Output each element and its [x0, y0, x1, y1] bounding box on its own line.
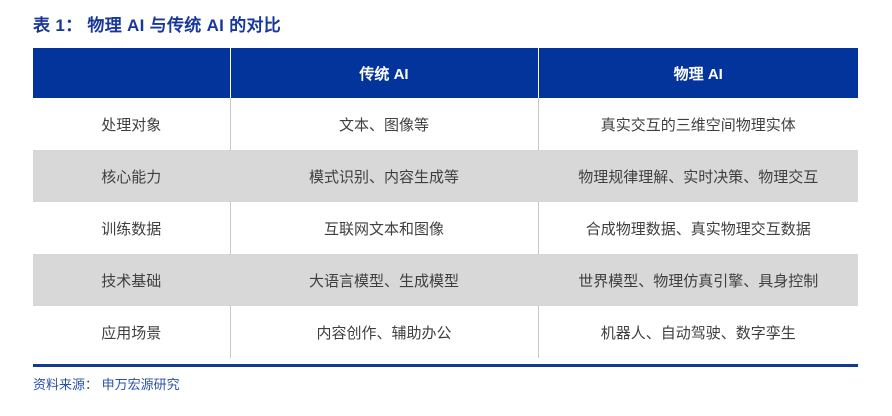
- physical-ai-cell: 合成物理数据、真实物理交互数据: [538, 202, 858, 254]
- traditional-ai-cell: 模式识别、内容生成等: [230, 150, 538, 202]
- traditional-ai-cell: 大语言模型、生成模型: [230, 254, 538, 306]
- physical-ai-cell: 真实交互的三维空间物理实体: [538, 98, 858, 150]
- table-bottom-rule: [33, 364, 858, 367]
- column-header-dimension: [33, 48, 230, 98]
- traditional-ai-cell: 互联网文本和图像: [230, 202, 538, 254]
- row-label-cell: 核心能力: [33, 150, 230, 202]
- table-header-row: 传统 AI 物理 AI: [33, 48, 858, 98]
- row-label-cell: 训练数据: [33, 202, 230, 254]
- traditional-ai-cell: 文本、图像等: [230, 98, 538, 150]
- table-row: 处理对象 文本、图像等 真实交互的三维空间物理实体: [33, 98, 858, 150]
- table-exhibit-page: 表 1： 物理 AI 与传统 AI 的对比 传统 AI 物理 AI 处理对象 文…: [0, 0, 892, 416]
- table-row: 技术基础 大语言模型、生成模型 世界模型、物理仿真引擎、具身控制: [33, 254, 858, 306]
- page-title: 表 1： 物理 AI 与传统 AI 的对比: [33, 11, 281, 36]
- physical-ai-cell: 世界模型、物理仿真引擎、具身控制: [538, 254, 858, 306]
- source-note: 资料来源： 申万宏源研究: [33, 374, 180, 393]
- column-header-traditional-ai: 传统 AI: [230, 48, 538, 98]
- table-row: 应用场景 内容创作、辅助办公 机器人、自动驾驶、数字孪生: [33, 306, 858, 358]
- row-label-cell: 技术基础: [33, 254, 230, 306]
- table-body: 处理对象 文本、图像等 真实交互的三维空间物理实体 核心能力 模式识别、内容生成…: [33, 98, 858, 358]
- physical-ai-cell: 物理规律理解、实时决策、物理交互: [538, 150, 858, 202]
- row-label-cell: 应用场景: [33, 306, 230, 358]
- table-header: 传统 AI 物理 AI: [33, 48, 858, 98]
- table-row: 训练数据 互联网文本和图像 合成物理数据、真实物理交互数据: [33, 202, 858, 254]
- row-label-cell: 处理对象: [33, 98, 230, 150]
- physical-ai-cell: 机器人、自动驾驶、数字孪生: [538, 306, 858, 358]
- column-header-physical-ai: 物理 AI: [538, 48, 858, 98]
- comparison-table-container: 传统 AI 物理 AI 处理对象 文本、图像等 真实交互的三维空间物理实体 核心…: [33, 48, 858, 358]
- comparison-table: 传统 AI 物理 AI 处理对象 文本、图像等 真实交互的三维空间物理实体 核心…: [33, 48, 858, 358]
- table-row: 核心能力 模式识别、内容生成等 物理规律理解、实时决策、物理交互: [33, 150, 858, 202]
- traditional-ai-cell: 内容创作、辅助办公: [230, 306, 538, 358]
